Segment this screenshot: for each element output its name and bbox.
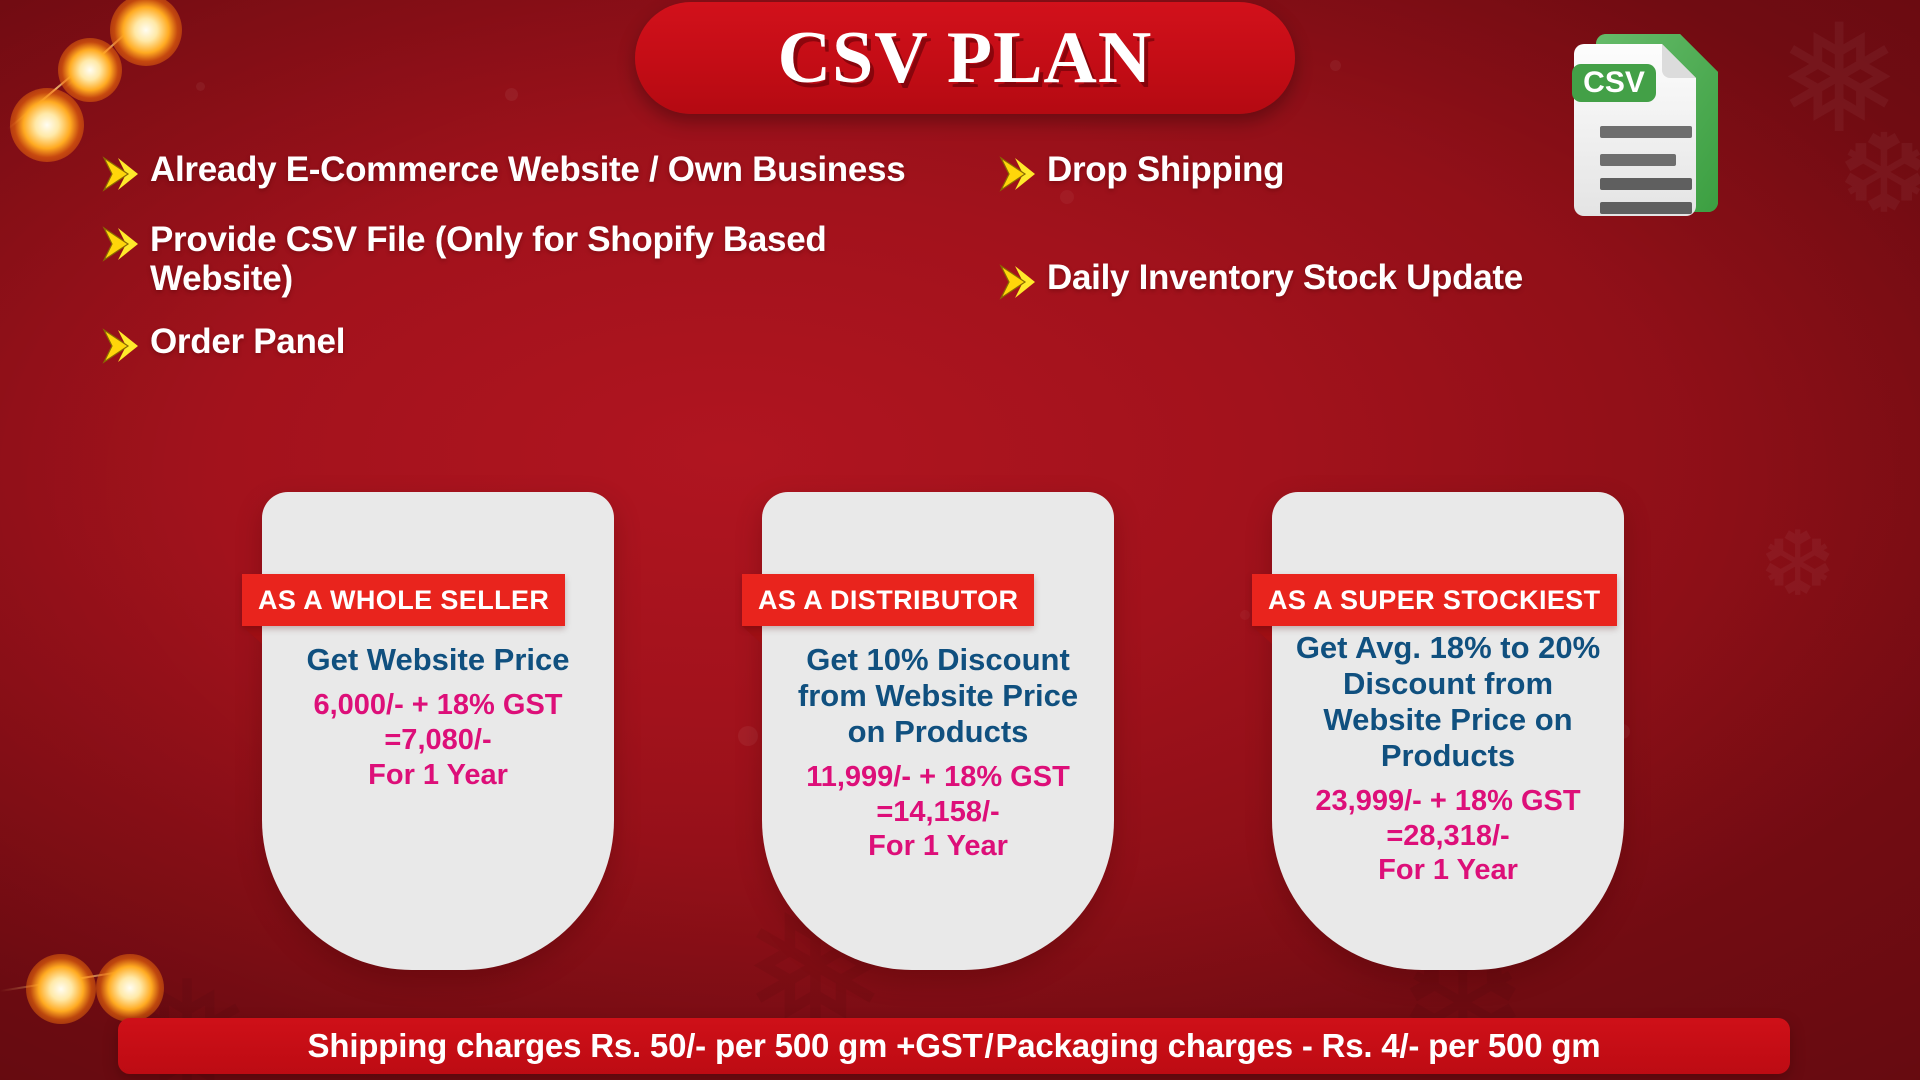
feature-label: Drop Shipping (1047, 150, 1284, 189)
feature-item: Drop Shipping (995, 150, 1755, 196)
pricing-card-whole-seller: AS A WHOLE SELLER Get Website Price 6,00… (262, 492, 614, 970)
banner-separator: / (982, 1027, 995, 1065)
chevron-right-icon (98, 152, 142, 196)
csv-badge-label: CSV (1583, 66, 1645, 99)
chevron-right-icon (98, 324, 142, 368)
card-heading: Get Website Price (276, 642, 600, 678)
feature-label: Already E-Commerce Website / Own Busines… (150, 150, 905, 189)
card-ribbon: AS A SUPER STOCKIEST (1252, 574, 1617, 626)
ribbon-fold (742, 626, 762, 644)
card-price-line: =14,158/- (776, 795, 1100, 830)
feature-label: Order Panel (150, 322, 345, 361)
bokeh-dot (505, 88, 518, 101)
card-ribbon-label: AS A SUPER STOCKIEST (1268, 585, 1601, 616)
card-heading: Get Avg. 18% to 20% Discount from Websit… (1286, 630, 1610, 774)
card-ribbon: AS A DISTRIBUTOR (742, 574, 1034, 626)
chevron-right-icon (98, 222, 142, 266)
feature-label: Daily Inventory Stock Update (1047, 258, 1523, 297)
feature-label: Provide CSV File (Only for Shopify Based… (150, 220, 918, 298)
ribbon-fold (1252, 626, 1272, 644)
card-ribbon-label: AS A DISTRIBUTOR (758, 585, 1018, 616)
card-ribbon-label: AS A WHOLE SELLER (258, 585, 549, 616)
feature-item: Already E-Commerce Website / Own Busines… (98, 150, 918, 196)
ribbon-fold (242, 626, 262, 644)
card-price-line: 6,000/- + 18% GST (276, 688, 600, 723)
features-left-column: Already E-Commerce Website / Own Busines… (98, 150, 918, 392)
card-heading: Get 10% Discount from Website Price on P… (776, 642, 1100, 750)
card-price-line: For 1 Year (276, 758, 600, 793)
card-body: Get Website Price 6,000/- + 18% GST =7,0… (262, 642, 614, 792)
packaging-charges-text: Packaging charges - Rs. 4/- per 500 gm (995, 1027, 1600, 1065)
feature-item: Order Panel (98, 322, 918, 368)
card-price-line: =28,318/- (1286, 819, 1610, 854)
features-section: Already E-Commerce Website / Own Busines… (0, 150, 1920, 440)
pricing-card-super-stockiest: AS A SUPER STOCKIEST Get Avg. 18% to 20%… (1272, 492, 1624, 970)
card-body: Get Avg. 18% to 20% Discount from Websit… (1272, 630, 1624, 888)
bottom-banner: Shipping charges Rs. 50/- per 500 gm +GS… (118, 1018, 1790, 1074)
title-banner: CSV PLAN (635, 2, 1295, 114)
card-price-line: 11,999/- + 18% GST (776, 760, 1100, 795)
card-price-line: =7,080/- (276, 723, 600, 758)
pricing-card-distributor: AS A DISTRIBUTOR Get 10% Discount from W… (762, 492, 1114, 970)
bokeh-dot (1330, 60, 1341, 71)
card-price-line: 23,999/- + 18% GST (1286, 784, 1610, 819)
card-price-line: For 1 Year (1286, 853, 1610, 888)
feature-item: Daily Inventory Stock Update (995, 258, 1755, 304)
shipping-charges-text: Shipping charges Rs. 50/- per 500 gm +GS… (308, 1027, 983, 1065)
feature-item: Provide CSV File (Only for Shopify Based… (98, 220, 918, 298)
card-price-line: For 1 Year (776, 829, 1100, 864)
chevron-right-icon (995, 260, 1039, 304)
features-right-column: Drop Shipping Daily Inventory Stock Upda… (995, 150, 1755, 366)
chevron-right-icon (995, 152, 1039, 196)
card-ribbon: AS A WHOLE SELLER (242, 574, 565, 626)
bokeh-dot (196, 82, 205, 91)
pricing-cards: AS A WHOLE SELLER Get Website Price 6,00… (0, 492, 1920, 972)
card-body: Get 10% Discount from Website Price on P… (762, 642, 1114, 864)
page-title: CSV PLAN (778, 16, 1153, 101)
